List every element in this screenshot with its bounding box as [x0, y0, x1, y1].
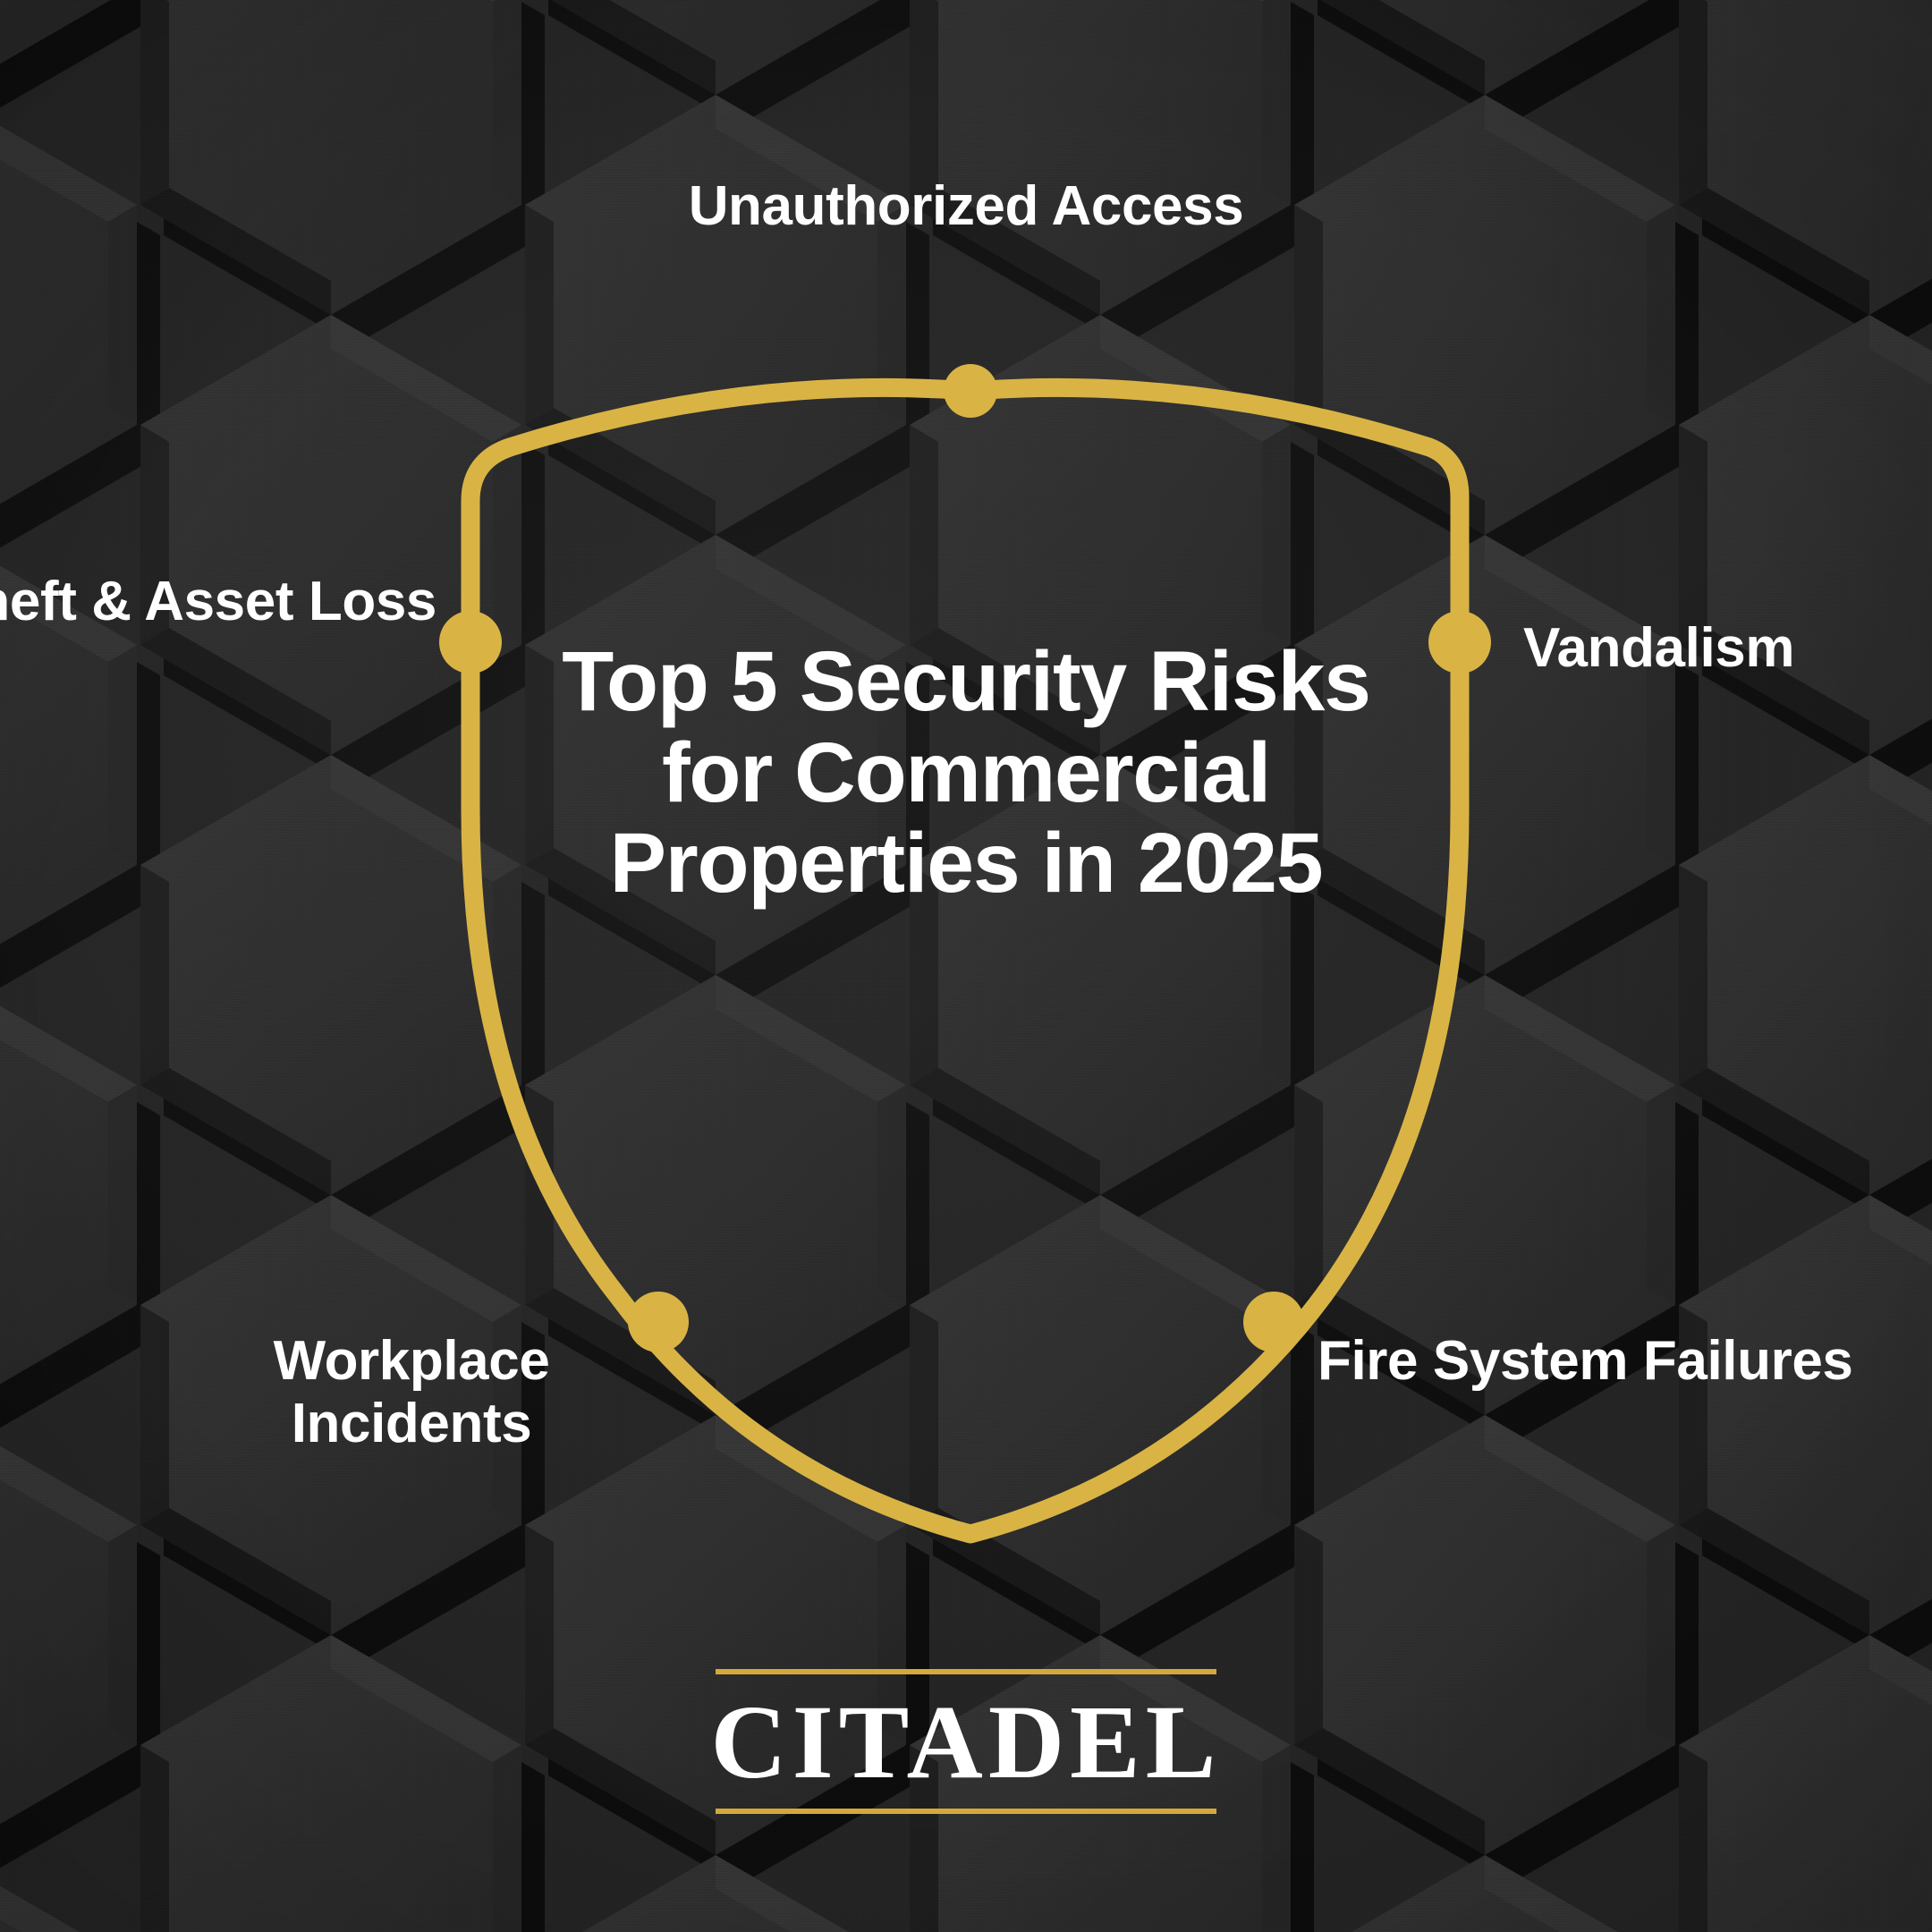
risk-label-workplace-incidents: Workplace Incidents [152, 1330, 671, 1455]
risk-label-theft-asset-loss: Theft & Asset Loss [0, 571, 436, 633]
risk-label-fire-system-failures: Fire System Failures [1318, 1330, 1854, 1393]
brand-logo: CITADEL [716, 1669, 1216, 1814]
logo-wordmark: CITADEL [716, 1674, 1216, 1809]
hexagon-background [0, 0, 1932, 1932]
risk-label-unauthorized-access: Unauthorized Access [0, 175, 1932, 238]
infographic-canvas: Unauthorized Access Theft & Asset Loss V… [0, 0, 1932, 1932]
risk-label-vandalism: Vandalism [1523, 617, 1932, 680]
logo-rule-bottom [716, 1809, 1216, 1814]
page-title: Top 5 Security Risks for Commercial Prop… [555, 637, 1377, 910]
